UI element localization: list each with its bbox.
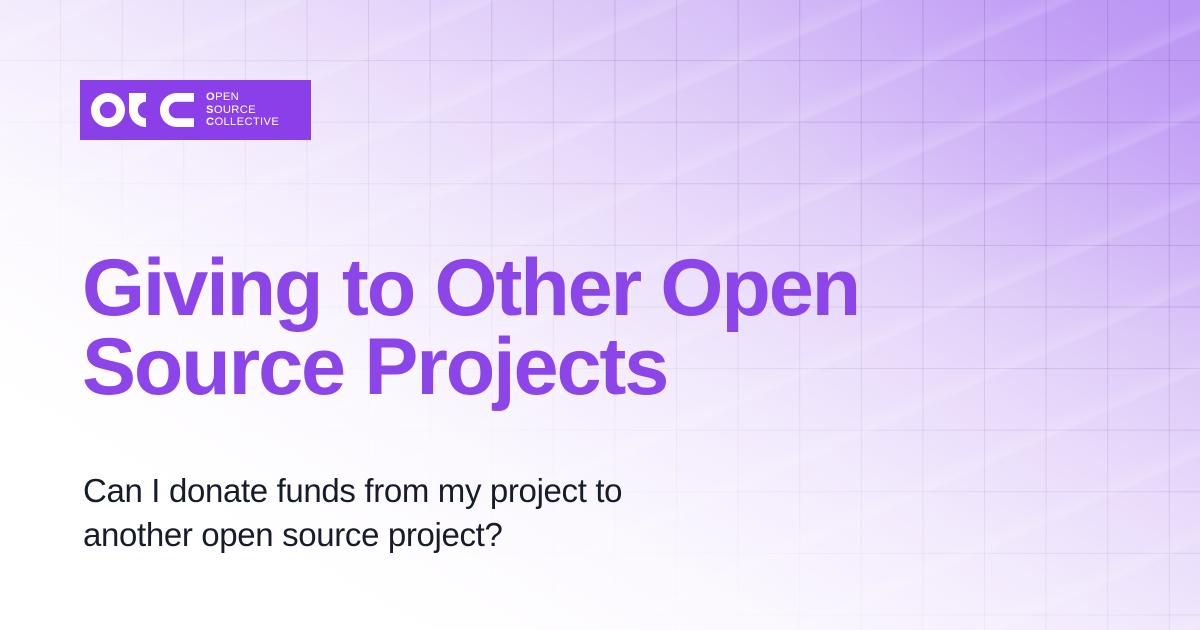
osc-monogram-icon bbox=[91, 93, 194, 127]
logo-wordmark-initial-o: O bbox=[206, 91, 215, 103]
page-subtitle-line-2: another open source project? bbox=[83, 513, 843, 557]
logo-wordmark-initial-s: S bbox=[206, 104, 214, 116]
card-content: OPEN SOURCE COLLECTIVE Giving to Other O… bbox=[0, 0, 1200, 630]
logo-wordmark-line-source: SOURCE bbox=[206, 104, 279, 117]
logo-wordmark-rest-open: PEN bbox=[215, 91, 239, 103]
social-card: OPEN SOURCE COLLECTIVE Giving to Other O… bbox=[0, 0, 1200, 630]
logo-wordmark-rest-collective: OLLECTIVE bbox=[214, 116, 279, 128]
logo-wordmark-rest-source: OURCE bbox=[214, 104, 256, 116]
page-subtitle: Can I donate funds from my project to an… bbox=[83, 469, 843, 557]
logo-wordmark: OPEN SOURCE COLLECTIVE bbox=[206, 91, 279, 129]
logo-wordmark-line-open: OPEN bbox=[206, 91, 279, 104]
page-title-line-1: Giving to Other Open bbox=[82, 249, 1082, 328]
page-title-line-2: Source Projects bbox=[82, 328, 1082, 407]
page-title: Giving to Other Open Source Projects bbox=[82, 249, 1082, 408]
open-source-collective-logo[interactable]: OPEN SOURCE COLLECTIVE bbox=[80, 80, 311, 140]
page-subtitle-line-1: Can I donate funds from my project to bbox=[83, 469, 843, 513]
logo-wordmark-line-collective: COLLECTIVE bbox=[206, 116, 279, 129]
